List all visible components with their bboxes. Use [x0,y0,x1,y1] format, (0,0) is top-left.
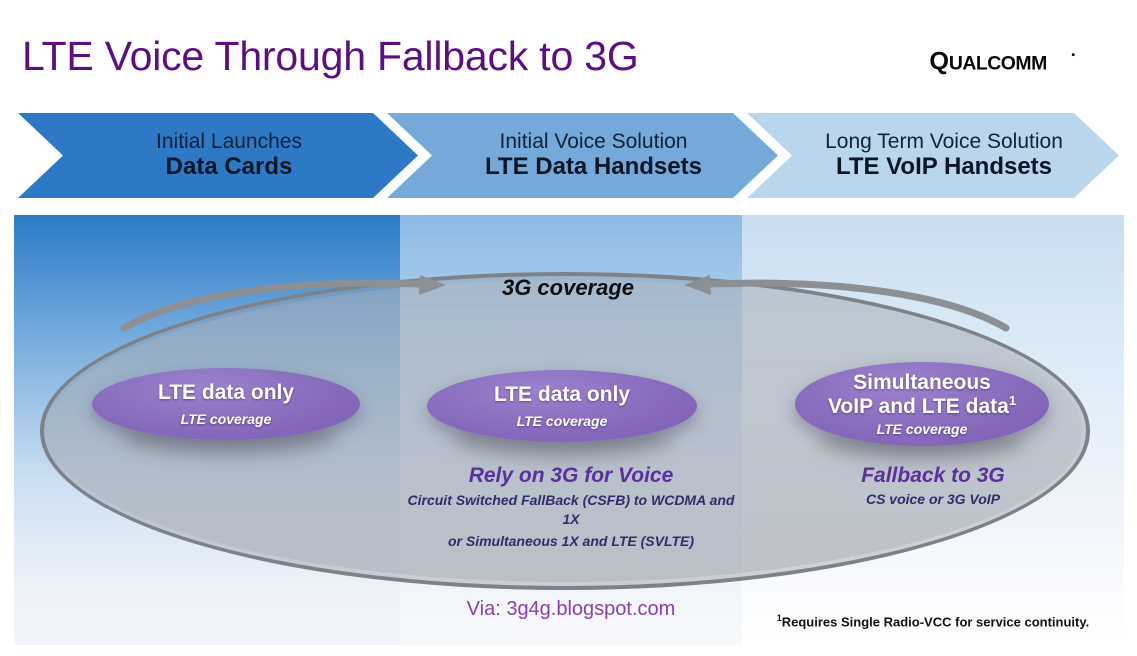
pill-right-title-line2: VoIP and LTE data1 [828,394,1016,418]
svg-text:UALCOMM: UALCOMM [949,52,1047,74]
banner-step-lte-data-handsets[interactable]: Initial Voice Solution LTE Data Handsets [387,113,778,198]
footnote: 1Requires Single Radio-VCC for service c… [742,613,1124,629]
source-attribution[interactable]: Via: 3g4g.blogspot.com [400,598,742,621]
pill-right-footnote-marker: 1 [1009,393,1016,408]
pill-left-subtitle: LTE coverage [181,411,272,427]
footnote-text: Requires Single Radio-VCC for service co… [782,614,1090,629]
banner-step-1-subtitle: Initial Launches [134,130,302,154]
arrow-right-icon [120,272,460,332]
slide-canvas: LTE Voice Through Fallback to 3G Q UALCO… [0,0,1137,656]
caption-middle-line2: or Simultaneous 1X and LTE (SVLTE) [400,532,742,551]
banner-step-2-title: LTE Data Handsets [463,154,702,181]
lte-coverage-pill-middle[interactable]: LTE data only LTE coverage [427,370,697,442]
process-banner: Initial Launches Data Cards Initial Voic… [18,113,1119,198]
pill-left-title: LTE data only [158,381,294,404]
svg-text:Q: Q [929,47,949,75]
banner-step-2-subtitle: Initial Voice Solution [478,130,688,154]
caption-middle: Rely on 3G for Voice Circuit Switched Fa… [400,463,742,551]
pill-middle-title: LTE data only [494,383,630,406]
pill-right-title-text: VoIP and LTE data [828,395,1009,418]
3g-coverage-label: 3G coverage [488,275,648,301]
caption-middle-head: Rely on 3G for Voice [400,463,742,488]
caption-right-line1: CS voice or 3G VoIP [742,490,1124,509]
banner-step-lte-voip-handsets[interactable]: Long Term Voice Solution LTE VoIP Handse… [747,113,1119,198]
banner-step-3-title: LTE VoIP Handsets [814,154,1052,181]
lte-coverage-pill-right[interactable]: Simultaneous VoIP and LTE data1 LTE cove… [795,362,1049,446]
caption-right-head: Fallback to 3G [742,463,1124,488]
pill-right-subtitle: LTE coverage [877,421,968,437]
qualcomm-logo: Q UALCOMM [927,44,1097,78]
arrow-left-icon [660,272,1010,332]
pill-right-title-line1: Simultaneous [853,371,991,394]
banner-step-1-title: Data Cards [144,154,293,181]
caption-right: Fallback to 3G CS voice or 3G VoIP [742,463,1124,509]
caption-middle-line1: Circuit Switched FallBack (CSFB) to WCDM… [400,491,742,529]
banner-step-3-subtitle: Long Term Voice Solution [803,130,1063,154]
banner-step-data-cards[interactable]: Initial Launches Data Cards [18,113,418,198]
page-title: LTE Voice Through Fallback to 3G [22,33,639,80]
lte-coverage-pill-left[interactable]: LTE data only LTE coverage [92,368,360,440]
pill-middle-subtitle: LTE coverage [517,413,608,429]
